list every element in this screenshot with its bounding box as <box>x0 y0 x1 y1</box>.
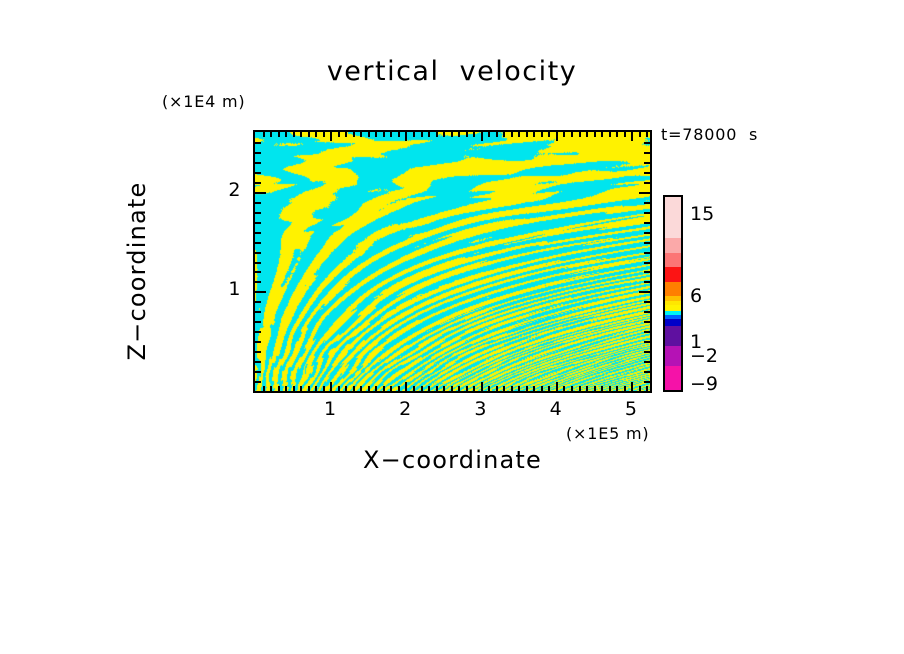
y-tick-right <box>644 152 650 154</box>
x-minor-tick <box>609 386 611 391</box>
x-tick-top <box>631 132 633 141</box>
x-major-tick <box>631 382 633 391</box>
y-minor-tick <box>255 152 261 154</box>
y-minor-tick <box>255 172 261 174</box>
x-tick-top <box>413 132 415 137</box>
heatmap-plot-area <box>253 130 652 393</box>
x-minor-tick <box>458 386 460 391</box>
y-major-tick <box>255 192 266 194</box>
x-tick-top <box>338 132 340 137</box>
x-tick-top <box>466 132 468 137</box>
x-tick-top <box>428 132 430 137</box>
y-minor-tick <box>255 262 261 264</box>
x-minor-tick <box>278 386 280 391</box>
colorbar-band <box>665 253 681 268</box>
colorbar-tick-label: −2 <box>690 345 718 367</box>
y-tick-right <box>644 311 650 313</box>
x-tick-top <box>646 132 648 137</box>
x-major-tick <box>481 382 483 391</box>
x-minor-tick <box>624 386 626 391</box>
x-tick-top <box>263 132 265 137</box>
x-minor-tick <box>541 386 543 391</box>
x-tick-top <box>496 132 498 137</box>
x-minor-tick <box>443 386 445 391</box>
y-tick-right <box>644 271 650 273</box>
colorbar-tick-label: −9 <box>690 373 718 395</box>
x-minor-tick <box>293 386 295 391</box>
x-tick-top <box>563 132 565 137</box>
y-minor-tick <box>255 242 261 244</box>
x-minor-tick <box>646 386 648 391</box>
x-tick-top <box>511 132 513 137</box>
y-minor-tick <box>255 311 261 313</box>
x-tick-top <box>458 132 460 137</box>
y-tick-right <box>644 222 650 224</box>
velocity-field-image <box>255 132 650 391</box>
x-minor-tick <box>323 386 325 391</box>
x-minor-tick <box>390 386 392 391</box>
y-tick-right <box>639 291 650 293</box>
x-tick-top <box>278 132 280 137</box>
x-tick-top <box>579 132 581 137</box>
y-tick-right <box>644 182 650 184</box>
x-tick-top <box>353 132 355 137</box>
x-minor-tick <box>488 386 490 391</box>
y-tick-right <box>639 192 650 194</box>
x-minor-tick <box>451 386 453 391</box>
x-tick-top <box>360 132 362 137</box>
y-major-tick <box>255 291 266 293</box>
x-tick-top <box>436 132 438 137</box>
x-minor-tick <box>360 386 362 391</box>
y-tick-right <box>644 202 650 204</box>
colorbar-band <box>665 238 681 253</box>
colorbar-tick-label: 15 <box>690 203 714 225</box>
x-tick-top <box>488 132 490 137</box>
y-tick-right <box>644 371 650 373</box>
x-minor-tick <box>436 386 438 391</box>
x-tick-top <box>375 132 377 137</box>
y-minor-tick <box>255 281 261 283</box>
x-tick-label: 3 <box>466 398 496 420</box>
figure-canvas: vertical velocity (×1E4 m) t=78000 s 123… <box>0 0 904 654</box>
colorbar-tick-label: 6 <box>690 285 702 307</box>
x-minor-tick <box>503 386 505 391</box>
colorbar-band <box>665 197 681 239</box>
y-tick-right <box>644 281 650 283</box>
x-tick-top <box>526 132 528 137</box>
y-minor-tick <box>255 271 261 273</box>
x-minor-tick <box>300 386 302 391</box>
x-minor-tick <box>398 386 400 391</box>
x-minor-tick <box>428 386 430 391</box>
page-title: vertical velocity <box>0 56 904 87</box>
x-tick-top <box>639 132 641 137</box>
x-tick-top <box>398 132 400 137</box>
y-minor-tick <box>255 222 261 224</box>
y-tick-right <box>644 232 650 234</box>
y-tick-right <box>644 381 650 383</box>
x-tick-top <box>293 132 295 137</box>
x-minor-tick <box>345 386 347 391</box>
x-minor-tick <box>526 386 528 391</box>
y-tick-label: 2 <box>211 179 241 201</box>
y-minor-tick <box>255 301 261 303</box>
y-minor-tick <box>255 351 261 353</box>
y-tick-right <box>644 321 650 323</box>
y-minor-tick <box>255 252 261 254</box>
y-tick-right <box>644 341 650 343</box>
x-tick-top <box>586 132 588 137</box>
x-minor-tick <box>368 386 370 391</box>
y-tick-label: 1 <box>211 278 241 300</box>
x-axis-units-label: (×1E5 m) <box>566 424 649 443</box>
x-major-tick <box>330 382 332 391</box>
x-minor-tick <box>375 386 377 391</box>
x-tick-top <box>443 132 445 137</box>
colorbar-band <box>665 267 681 282</box>
y-minor-tick <box>255 232 261 234</box>
y-minor-tick <box>255 212 261 214</box>
x-tick-top <box>451 132 453 137</box>
x-tick-top <box>571 132 573 137</box>
x-tick-top <box>556 132 558 141</box>
y-minor-tick <box>255 162 261 164</box>
x-minor-tick <box>571 386 573 391</box>
y-tick-right <box>644 331 650 333</box>
x-major-tick <box>405 382 407 391</box>
x-tick-label: 2 <box>390 398 420 420</box>
colorbar-band <box>665 282 681 297</box>
x-minor-tick <box>563 386 565 391</box>
y-tick-right <box>644 142 650 144</box>
x-minor-tick <box>601 386 603 391</box>
x-tick-top <box>481 132 483 141</box>
x-tick-label: 1 <box>315 398 345 420</box>
x-tick-top <box>609 132 611 137</box>
x-tick-top <box>285 132 287 137</box>
x-minor-tick <box>548 386 550 391</box>
x-minor-tick <box>496 386 498 391</box>
y-tick-right <box>644 351 650 353</box>
x-minor-tick <box>533 386 535 391</box>
x-tick-top <box>323 132 325 137</box>
x-minor-tick <box>338 386 340 391</box>
x-minor-tick <box>308 386 310 391</box>
x-tick-top <box>383 132 385 137</box>
x-tick-label: 4 <box>541 398 571 420</box>
x-tick-top <box>473 132 475 137</box>
y-minor-tick <box>255 381 261 383</box>
x-minor-tick <box>413 386 415 391</box>
y-minor-tick <box>255 202 261 204</box>
y-tick-right <box>644 301 650 303</box>
x-tick-top <box>533 132 535 137</box>
x-tick-top <box>594 132 596 137</box>
x-axis-title: X−coordinate <box>253 446 652 474</box>
x-tick-label: 5 <box>616 398 646 420</box>
x-minor-tick <box>466 386 468 391</box>
colorbar-band <box>665 326 681 347</box>
x-minor-tick <box>285 386 287 391</box>
colorbar-band <box>665 366 681 390</box>
x-tick-top <box>541 132 543 137</box>
y-tick-right <box>644 252 650 254</box>
x-tick-top <box>345 132 347 137</box>
x-tick-top <box>616 132 618 137</box>
x-tick-top <box>368 132 370 137</box>
x-minor-tick <box>263 386 265 391</box>
x-minor-tick <box>473 386 475 391</box>
x-tick-top <box>405 132 407 141</box>
y-tick-right <box>644 162 650 164</box>
x-minor-tick <box>518 386 520 391</box>
x-minor-tick <box>511 386 513 391</box>
x-minor-tick <box>315 386 317 391</box>
colorbar <box>663 195 683 392</box>
x-major-tick <box>556 382 558 391</box>
time-annotation: t=78000 s <box>661 125 758 144</box>
x-tick-top <box>503 132 505 137</box>
x-tick-top <box>601 132 603 137</box>
x-tick-top <box>308 132 310 137</box>
x-minor-tick <box>579 386 581 391</box>
x-minor-tick <box>383 386 385 391</box>
y-minor-tick <box>255 371 261 373</box>
x-minor-tick <box>353 386 355 391</box>
colorbar-band <box>665 346 681 367</box>
y-minor-tick <box>255 341 261 343</box>
x-minor-tick <box>270 386 272 391</box>
y-axis-units-label: (×1E4 m) <box>162 92 245 111</box>
y-minor-tick <box>255 142 261 144</box>
y-tick-right <box>644 262 650 264</box>
x-tick-top <box>518 132 520 137</box>
y-minor-tick <box>255 321 261 323</box>
y-tick-right <box>644 361 650 363</box>
x-tick-top <box>330 132 332 141</box>
x-tick-top <box>548 132 550 137</box>
y-tick-right <box>644 212 650 214</box>
x-minor-tick <box>616 386 618 391</box>
x-tick-top <box>624 132 626 137</box>
y-minor-tick <box>255 182 261 184</box>
x-tick-top <box>300 132 302 137</box>
y-minor-tick <box>255 331 261 333</box>
y-axis-title: Z−coordinate <box>123 101 151 441</box>
x-tick-top <box>315 132 317 137</box>
x-tick-top <box>270 132 272 137</box>
x-tick-top <box>421 132 423 137</box>
y-tick-right <box>644 242 650 244</box>
x-tick-top <box>390 132 392 137</box>
x-minor-tick <box>421 386 423 391</box>
x-minor-tick <box>586 386 588 391</box>
x-minor-tick <box>594 386 596 391</box>
y-minor-tick <box>255 361 261 363</box>
y-tick-right <box>644 172 650 174</box>
x-minor-tick <box>639 386 641 391</box>
